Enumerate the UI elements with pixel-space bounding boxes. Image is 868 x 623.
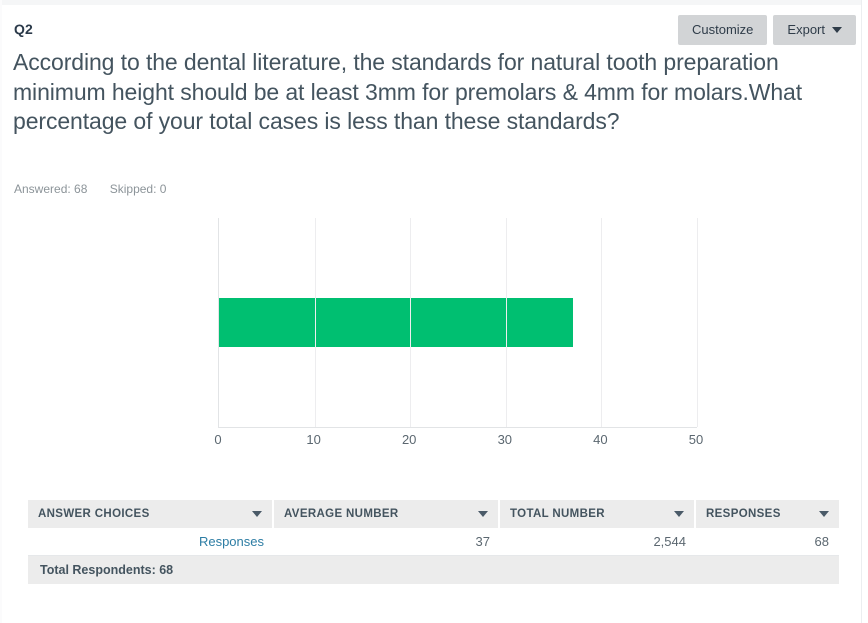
cell-responses: 68 (696, 528, 839, 556)
column-header-total-number-label: TOTAL NUMBER (510, 508, 605, 520)
bar-chart: 01020304050 (0, 210, 868, 460)
chart-gridline (506, 218, 507, 427)
answer-choice-link[interactable]: Responses (199, 534, 264, 549)
table-row: Responses 37 2,544 68 (28, 528, 839, 556)
chart-bar-responses[interactable] (219, 298, 573, 347)
chart-plot-area (218, 218, 697, 428)
chart-gridline (697, 218, 698, 427)
cell-total-number: 2,544 (500, 528, 696, 556)
cell-average-number: 37 (274, 528, 500, 556)
column-header-responses-label: RESPONSES (706, 508, 781, 520)
x-axis-tick-label: 0 (214, 432, 221, 447)
export-button-label: Export (787, 15, 825, 45)
column-header-answer-choices[interactable]: ANSWER CHOICES (28, 500, 274, 528)
x-axis-tick-label: 30 (498, 432, 512, 447)
question-text: According to the dental literature, the … (13, 48, 858, 137)
chevron-down-icon (819, 511, 829, 517)
column-header-average-number-label: AVERAGE NUMBER (284, 508, 399, 520)
skipped-count: Skipped: 0 (110, 182, 167, 196)
survey-question-card: Q2 Customize Export According to the den… (0, 0, 868, 623)
column-header-answer-choices-label: ANSWER CHOICES (38, 508, 150, 520)
total-respondents-row: Total Respondents: 68 (28, 556, 839, 584)
chevron-down-icon (674, 511, 684, 517)
card-header: Q2 Customize Export (0, 5, 868, 45)
header-actions: Customize Export (678, 15, 856, 45)
response-meta: Answered: 68 Skipped: 0 (14, 182, 185, 196)
column-header-average-number[interactable]: AVERAGE NUMBER (274, 500, 500, 528)
question-number: Q2 (14, 21, 33, 37)
x-axis-tick-labels: 01020304050 (218, 432, 697, 452)
customize-button-label: Customize (692, 15, 753, 45)
column-header-total-number[interactable]: TOTAL NUMBER (500, 500, 696, 528)
table-header-row: ANSWER CHOICES AVERAGE NUMBER TOTAL NUMB… (28, 500, 839, 528)
chart-gridline (410, 218, 411, 427)
chevron-down-icon (478, 511, 488, 517)
cell-answer-choice: Responses (28, 528, 274, 556)
x-axis-tick-label: 10 (306, 432, 320, 447)
export-button[interactable]: Export (773, 15, 856, 45)
chart-gridline (315, 218, 316, 427)
answered-count: Answered: 68 (14, 182, 87, 196)
x-axis-tick-label: 50 (689, 432, 703, 447)
response-table: ANSWER CHOICES AVERAGE NUMBER TOTAL NUMB… (28, 500, 839, 584)
x-axis-tick-label: 20 (402, 432, 416, 447)
chart-gridline (601, 218, 602, 427)
column-header-responses[interactable]: RESPONSES (696, 500, 839, 528)
customize-button[interactable]: Customize (678, 15, 767, 45)
chevron-down-icon (832, 27, 842, 33)
chevron-down-icon (252, 511, 262, 517)
x-axis-tick-label: 40 (593, 432, 607, 447)
